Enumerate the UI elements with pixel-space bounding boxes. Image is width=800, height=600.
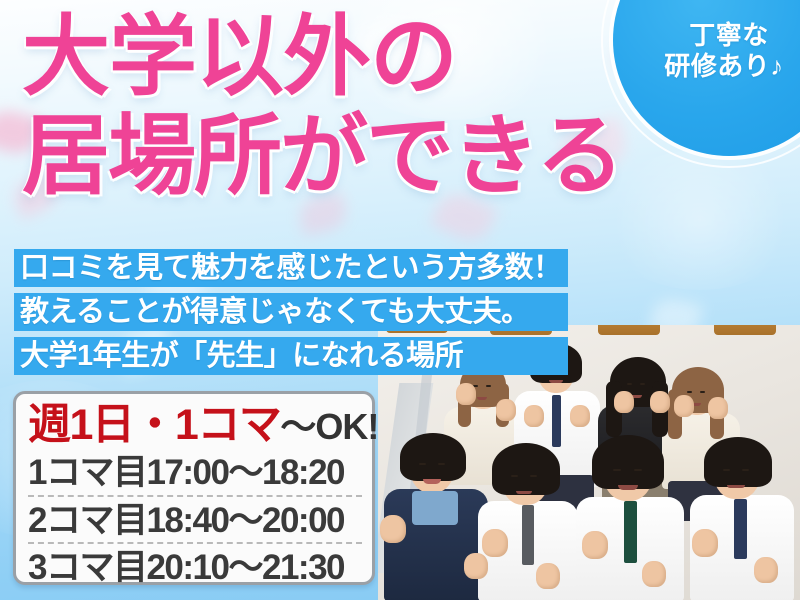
schedule-headline-ok: 〜OK! bbox=[280, 406, 378, 447]
headline: 大学以外の 居場所ができる bbox=[22, 8, 622, 205]
training-badge: 丁寧な 研修あり♪ bbox=[613, 0, 800, 156]
highlight-band-3: 大学1年生が「先生」になれる場所 bbox=[14, 337, 568, 375]
training-badge-line1: 丁寧な bbox=[689, 20, 769, 50]
recruitment-banner: 丁寧な 研修あり♪ 大学以外の 居場所ができる 口コミを見て魅力を感じたという方… bbox=[0, 0, 800, 600]
headline-line-2: 居場所ができる bbox=[22, 107, 622, 206]
training-badge-text: 丁寧な 研修あり♪ bbox=[613, 20, 800, 81]
schedule-row: 2コマ目18:40〜20:00 bbox=[28, 495, 362, 542]
schedule-headline-red: 週1日・1コマ bbox=[28, 401, 280, 449]
highlight-bands: 口コミを見て魅力を感じたという方多数！ 教えることが得意じゃなくても大丈夫。 大… bbox=[14, 249, 568, 381]
schedule-headline: 週1日・1コマ〜OK! bbox=[28, 400, 362, 450]
background-glow bbox=[600, 150, 800, 290]
training-badge-line2: 研修あり♪ bbox=[621, 51, 800, 82]
schedule-row: 1コマ目17:00〜18:20 bbox=[28, 450, 362, 495]
highlight-band-2: 教えることが得意じゃなくても大丈夫。 bbox=[14, 293, 568, 331]
highlight-band-1: 口コミを見て魅力を感じたという方多数！ bbox=[14, 249, 568, 287]
schedule-card: 週1日・1コマ〜OK! 1コマ目17:00〜18:20 2コマ目18:40〜20… bbox=[13, 391, 375, 585]
headline-line-1: 大学以外の bbox=[22, 8, 622, 107]
schedule-row: 3コマ目20:10〜21:30 bbox=[28, 542, 362, 589]
